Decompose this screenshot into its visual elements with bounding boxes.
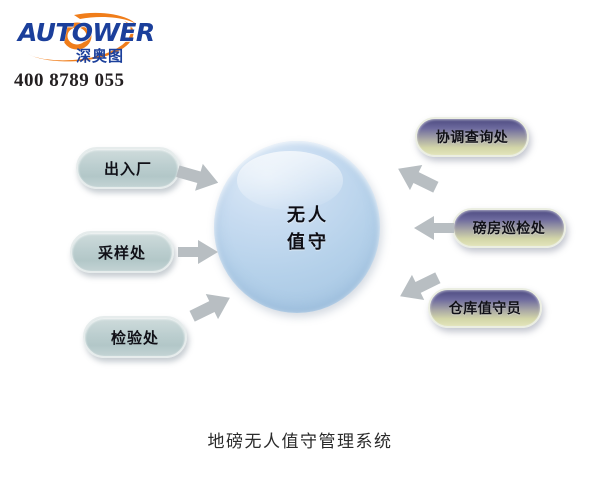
logo-wordmark: AUTOWER (18, 18, 155, 47)
node-cang-ku-zhi-shou-yuan[interactable]: 仓库值守员 (428, 288, 542, 328)
arrow-down-left-icon (394, 160, 440, 196)
node-label: 检验处 (111, 327, 159, 348)
node-label: 仓库值守员 (449, 298, 522, 318)
node-jian-yan-chu[interactable]: 检验处 (83, 316, 187, 358)
node-label: 采样处 (98, 242, 146, 263)
arrow-right-icon (176, 238, 220, 266)
arrow-right-icon (175, 160, 221, 194)
diagram-canvas: AUTOWER 深奥图 400 8789 055 无人 值守 出入厂 采样处 检… (0, 0, 600, 480)
hub-label-line2: 值守 (287, 229, 329, 256)
phone-number: 400 8789 055 (14, 70, 125, 92)
central-hub-circle: 无人 值守 (214, 141, 380, 313)
node-cai-yang-chu[interactable]: 采样处 (70, 231, 174, 273)
logo-subtext: 深奥图 (76, 45, 124, 66)
hub-label: 无人 值守 (287, 202, 329, 256)
node-label: 协调查询处 (436, 127, 509, 147)
logo-mark: AUTOWER 深奥图 (14, 10, 150, 64)
hub-label-line1: 无人 (287, 202, 329, 229)
node-label: 出入厂 (104, 158, 152, 179)
arrow-up-right-icon (188, 289, 234, 325)
brand-logo-block: AUTOWER 深奥图 400 8789 055 (14, 10, 214, 100)
arrow-left-icon (412, 214, 456, 242)
node-label: 磅房巡检处 (473, 218, 546, 238)
node-bang-fang-xun-jian-chu[interactable]: 磅房巡检处 (452, 208, 566, 248)
node-xie-tiao-cha-xun-chu[interactable]: 协调查询处 (415, 117, 529, 157)
arrow-up-left-icon (396, 269, 442, 305)
node-chu-ru-chang[interactable]: 出入厂 (76, 147, 180, 189)
hub-highlight (237, 151, 343, 209)
diagram-caption: 地磅无人值守管理系统 (0, 427, 600, 452)
